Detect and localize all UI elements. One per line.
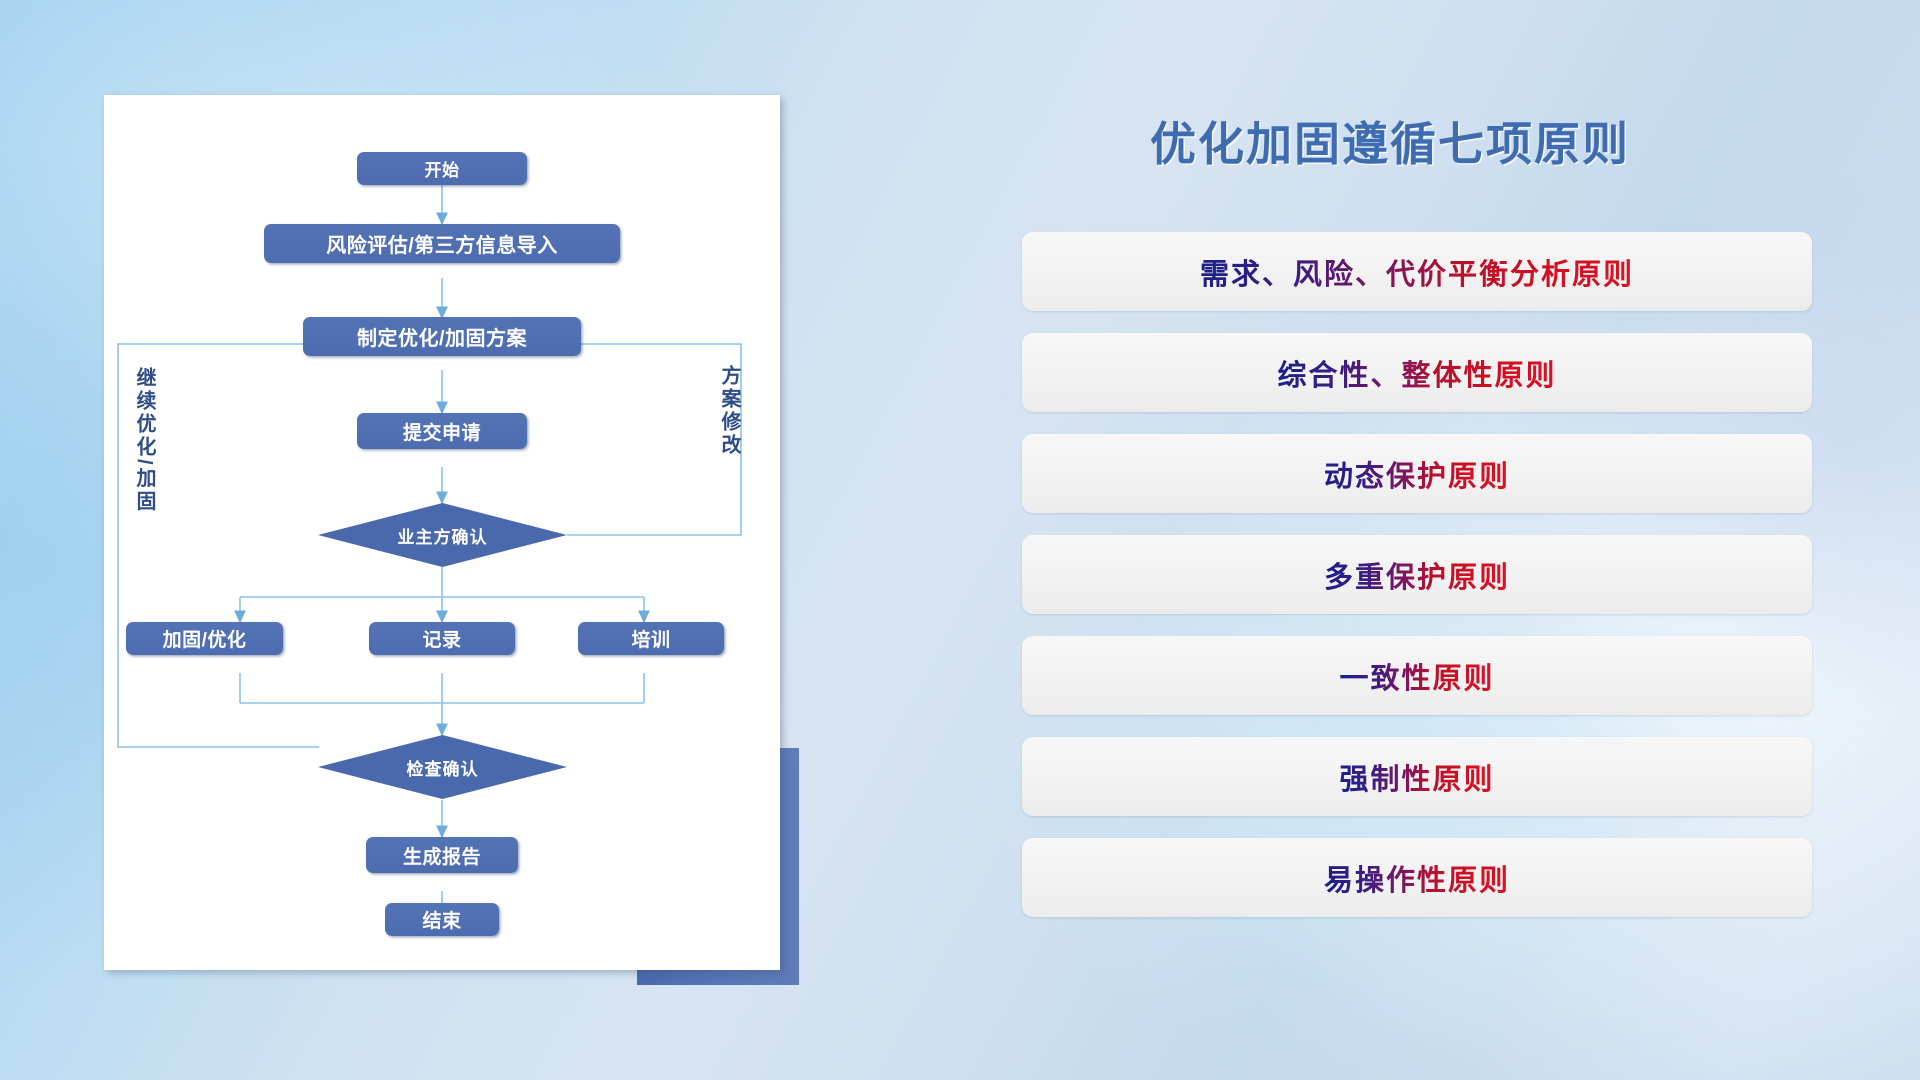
principle-item[interactable]: 强制性原则	[1022, 737, 1812, 816]
principle-label: 综合性、整体性原则	[1277, 352, 1556, 394]
flow-node-risk-assessment[interactable]: 风险评估/第三方信息导入	[264, 224, 620, 263]
flowchart-card: 开始 风险评估/第三方信息导入 制定优化/加固方案 提交申请 业主方确认 加固/…	[104, 95, 780, 970]
principle-label: 易操作性原则	[1324, 857, 1510, 899]
principle-label: 需求、风险、代价平衡分析原则	[1200, 251, 1634, 293]
flow-node-end[interactable]: 结束	[385, 903, 499, 936]
principle-item-inner: 动态保护原则	[1022, 434, 1812, 513]
flow-node-training[interactable]: 培训	[578, 622, 724, 655]
flow-node-label: 提交申请	[403, 418, 481, 445]
flow-node-reinforce[interactable]: 加固/优化	[126, 622, 283, 655]
panel-title: 优化加固遵循七项原则	[1150, 108, 1630, 174]
principle-item[interactable]: 多重保护原则	[1022, 535, 1812, 614]
principle-item-inner: 易操作性原则	[1022, 838, 1812, 917]
flow-node-owner-confirm[interactable]: 业主方确认	[318, 503, 567, 567]
flow-node-label: 开始	[425, 156, 460, 181]
flow-node-record[interactable]: 记录	[369, 622, 515, 655]
principle-item[interactable]: 易操作性原则	[1022, 838, 1812, 917]
flow-node-submit-application[interactable]: 提交申请	[357, 413, 527, 449]
principle-item-inner: 综合性、整体性原则	[1022, 333, 1812, 412]
flow-node-label: 检查确认	[318, 735, 567, 799]
flow-node-check-confirm[interactable]: 检查确认	[318, 735, 567, 799]
flow-node-label: 记录	[422, 625, 461, 652]
principle-item-inner: 强制性原则	[1022, 737, 1812, 816]
flow-node-label: 结束	[422, 906, 461, 933]
principle-item[interactable]: 一致性原则	[1022, 636, 1812, 715]
flow-node-plan[interactable]: 制定优化/加固方案	[303, 317, 581, 356]
principles-list: 需求、风险、代价平衡分析原则 综合性、整体性原则 动态保护原则 多重保护原则 一…	[1022, 232, 1812, 939]
principle-item[interactable]: 综合性、整体性原则	[1022, 333, 1812, 412]
principle-item-inner: 一致性原则	[1022, 636, 1812, 715]
principle-item-inner: 需求、风险、代价平衡分析原则	[1022, 232, 1812, 311]
principle-label: 多重保护原则	[1324, 554, 1510, 596]
principle-item-inner: 多重保护原则	[1022, 535, 1812, 614]
principle-label: 强制性原则	[1339, 756, 1494, 798]
flow-node-label: 生成报告	[403, 842, 481, 869]
flow-node-start[interactable]: 开始	[357, 152, 527, 185]
flow-node-generate-report[interactable]: 生成报告	[366, 837, 518, 873]
flow-node-label: 业主方确认	[318, 503, 567, 567]
flow-edge-label-right: 方案修改	[715, 365, 744, 457]
flow-node-label: 培训	[631, 625, 670, 652]
flow-node-label: 制定优化/加固方案	[357, 322, 527, 351]
principle-label: 一致性原则	[1339, 655, 1494, 697]
flow-node-label: 加固/优化	[163, 625, 247, 652]
principle-label: 动态保护原则	[1324, 453, 1510, 495]
flow-node-label: 风险评估/第三方信息导入	[326, 229, 558, 258]
principle-item[interactable]: 动态保护原则	[1022, 434, 1812, 513]
flow-edge-label-left: 继续优化/加固	[130, 367, 159, 514]
principle-item[interactable]: 需求、风险、代价平衡分析原则	[1022, 232, 1812, 311]
